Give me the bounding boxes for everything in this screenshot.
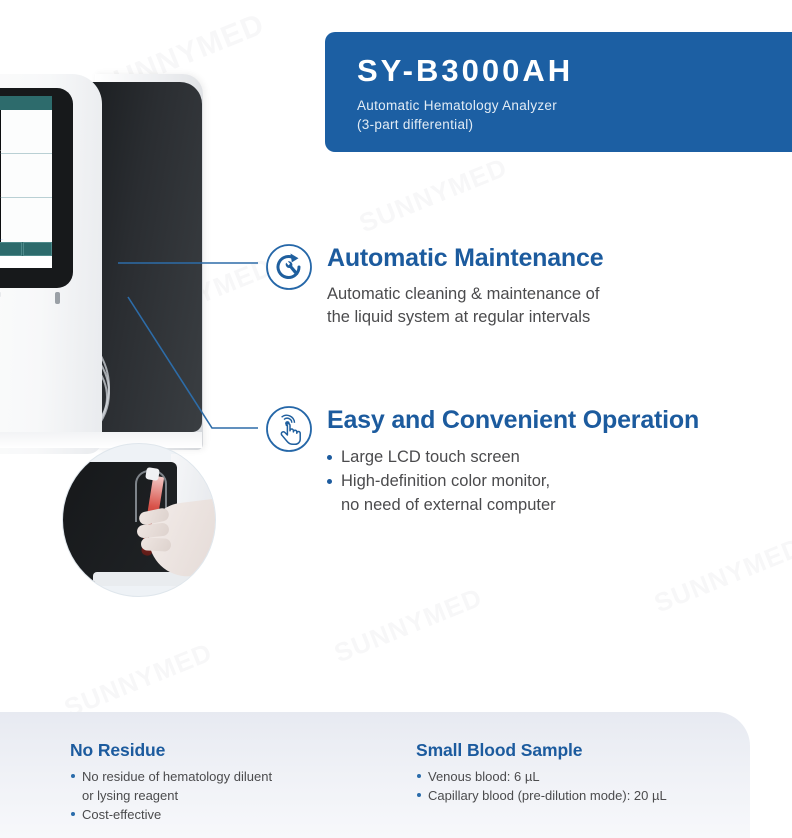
panel-bullet-list: No residue of hematology diluent or lysi…	[70, 767, 400, 824]
bullet-text: Venous blood: 6 µL	[428, 769, 540, 784]
list-item: Large LCD touch screen	[327, 445, 745, 469]
bullet-text: Cost-effective	[82, 807, 161, 822]
panel-column-title: Small Blood Sample	[416, 740, 746, 761]
feature-body-line: the liquid system at regular intervals	[327, 306, 685, 329]
list-item: Capillary blood (pre-dilution mode): 20 …	[416, 786, 746, 805]
feature-title: Easy and Convenient Operation	[327, 405, 745, 435]
feature-easy-operation: Easy and Convenient Operation Large LCD …	[265, 405, 745, 517]
product-feature-page: SUNNYMED SUNNYMED SUNNYMED SUNNYMED SUNN…	[0, 0, 792, 838]
bottom-highlights-panel: No Residue No residue of hematology dilu…	[0, 712, 750, 838]
bullet-text: Capillary blood (pre-dilution mode): 20 …	[428, 788, 667, 803]
feature-title: Automatic Maintenance	[327, 243, 685, 273]
product-title-banner: SY-B3000AH Automatic Hematology Analyzer…	[325, 32, 792, 152]
list-item: High-definition color monitor,	[327, 469, 745, 493]
panel-column-no-residue: No Residue No residue of hematology dilu…	[70, 740, 400, 824]
bullet-text: Large LCD touch screen	[341, 448, 520, 466]
list-item-continuation: no need of external computer	[327, 493, 745, 517]
bullet-text: no need of external computer	[341, 496, 556, 514]
list-item: No residue of hematology diluent	[70, 767, 400, 786]
panel-column-small-blood-sample: Small Blood Sample Venous blood: 6 µL Ca…	[416, 740, 746, 805]
bullet-text: or lysing reagent	[82, 788, 178, 803]
feature-automatic-maintenance: Automatic Maintenance Automatic cleaning…	[265, 243, 685, 329]
product-subtitle: Automatic Hematology Analyzer (3-part di…	[357, 96, 792, 134]
connector-line-bottom	[128, 297, 258, 428]
list-item: Cost-effective	[70, 805, 400, 824]
touch-hand-icon	[265, 405, 313, 453]
list-item: Venous blood: 6 µL	[416, 767, 746, 786]
panel-bullet-list: Venous blood: 6 µL Capillary blood (pre-…	[416, 767, 746, 805]
product-model-name: SY-B3000AH	[357, 50, 792, 92]
feature-bullet-list: Large LCD touch screen High-definition c…	[327, 445, 745, 517]
feature-body-line: Automatic cleaning & maintenance of	[327, 283, 685, 306]
product-subtitle-line1: Automatic Hematology Analyzer	[357, 96, 792, 115]
maintenance-refresh-wrench-icon	[265, 243, 313, 291]
bullet-text: High-definition color monitor,	[341, 472, 550, 490]
bullet-text: No residue of hematology diluent	[82, 769, 272, 784]
panel-column-title: No Residue	[70, 740, 400, 761]
product-subtitle-line2: (3-part differential)	[357, 115, 792, 134]
list-item-continuation: or lysing reagent	[70, 786, 400, 805]
